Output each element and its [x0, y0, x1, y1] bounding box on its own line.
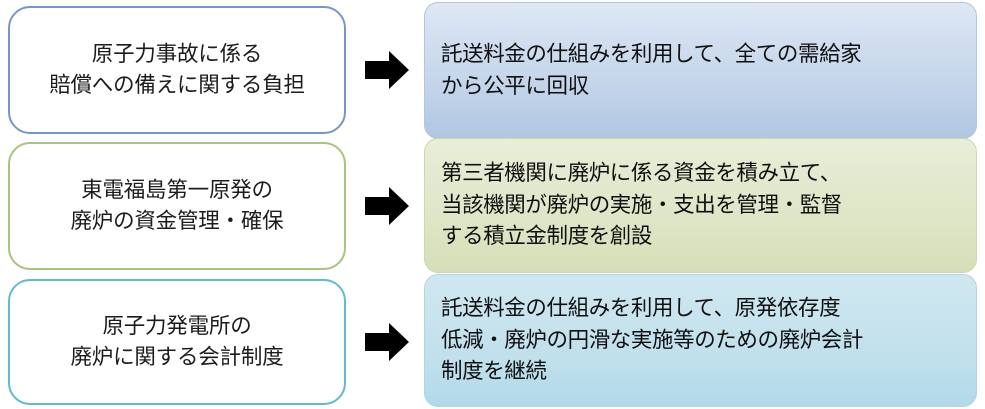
topic-box-2: 東電福島第一原発の 廃炉の資金管理・確保: [8, 142, 346, 270]
flow-row-2: 東電福島第一原発の 廃炉の資金管理・確保 第三者機関に廃炉に係る資金を積み立て、…: [0, 142, 985, 270]
measure-box-2-label: 第三者機関に廃炉に係る資金を積み立て、 当該機関が廃炉の実施・支出を管理・監督 …: [441, 158, 842, 253]
measure-box-3: 託送料金の仕組みを利用して、原発依存度 低減・廃炉の円滑な実施等のための廃炉会計…: [424, 274, 977, 407]
topic-box-1: 原子力事故に係る 賠償への備えに関する負担: [8, 6, 346, 134]
topic-box-2-label: 東電福島第一原発の 廃炉の資金管理・確保: [70, 175, 283, 236]
right-arrow-icon-2: [364, 184, 410, 228]
topic-box-3-label: 原子力発電所の 廃炉に関する会計制度: [70, 311, 283, 372]
flow-row-1: 原子力事故に係る 賠償への備えに関する負担 託送料金の仕組みを利用して、全ての需…: [0, 6, 985, 134]
measure-box-2: 第三者機関に廃炉に係る資金を積み立て、 当該機関が廃炉の実施・支出を管理・監督 …: [424, 138, 977, 273]
topic-box-3: 原子力発電所の 廃炉に関する会計制度: [8, 279, 346, 405]
measure-box-1: 託送料金の仕組みを利用して、全ての需給家 から公平に回収: [424, 2, 977, 139]
flow-row-3: 原子力発電所の 廃炉に関する会計制度 託送料金の仕組みを利用して、原発依存度 低…: [0, 279, 985, 405]
measure-box-3-label: 託送料金の仕組みを利用して、原発依存度 低減・廃炉の円滑な実施等のための廃炉会計…: [441, 293, 863, 388]
right-arrow-icon-3: [364, 320, 410, 364]
process-flow-diagram: 原子力事故に係る 賠償への備えに関する負担 託送料金の仕組みを利用して、全ての需…: [0, 0, 985, 409]
right-arrow-icon-1: [364, 48, 410, 92]
measure-box-1-label: 託送料金の仕組みを利用して、全ての需給家 から公平に回収: [441, 39, 861, 102]
topic-box-1-label: 原子力事故に係る 賠償への備えに関する負担: [49, 39, 305, 100]
